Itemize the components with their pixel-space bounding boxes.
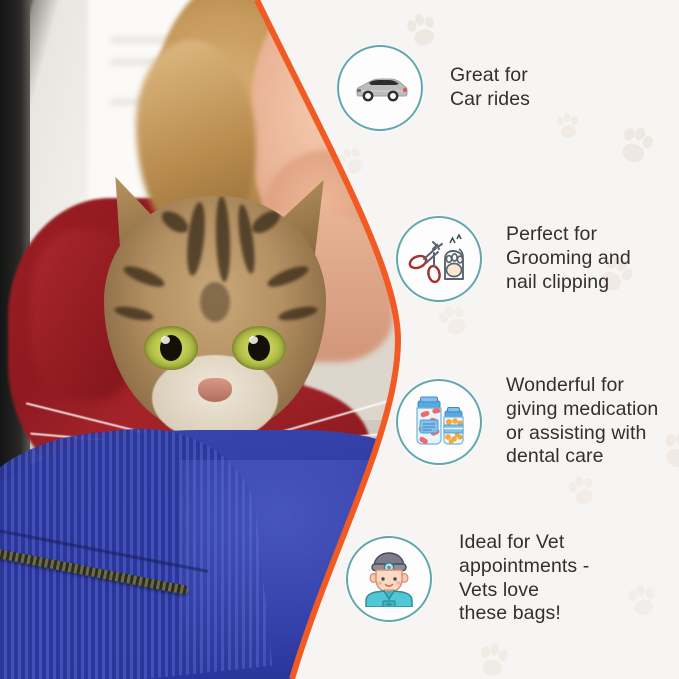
feature-label: Great for Car rides	[450, 64, 530, 112]
feature-item-medication[interactable]: Wonderful for giving medication or assis…	[396, 374, 658, 469]
veterinarian-icon	[346, 536, 432, 622]
feature-item-grooming[interactable]: Perfect for Grooming and nail clipping	[396, 216, 631, 302]
paw-print-icon	[560, 470, 606, 516]
product-feature-infographic: Great for Car rides	[0, 0, 679, 679]
feature-item-car-rides[interactable]: Great for Car rides	[337, 45, 530, 131]
cat-nose	[198, 378, 232, 402]
feature-label: Wonderful for giving medication or assis…	[506, 374, 658, 469]
paw-print-icon	[606, 119, 665, 178]
paw-print-icon	[551, 111, 586, 146]
cat-eye-right	[232, 326, 286, 370]
paw-print-icon	[429, 297, 481, 349]
paw-print-icon	[620, 580, 665, 625]
car-icon	[337, 45, 423, 131]
feature-label: Ideal for Vet appointments - Vets love t…	[459, 531, 589, 626]
medicine-bottles-icon	[396, 379, 482, 465]
cat-eye-left	[144, 326, 198, 370]
feature-label: Perfect for Grooming and nail clipping	[506, 223, 631, 294]
nail-clippers-paw-icon	[396, 216, 482, 302]
paw-print-icon	[470, 640, 517, 679]
feature-item-vet[interactable]: Ideal for Vet appointments - Vets love t…	[346, 531, 589, 626]
